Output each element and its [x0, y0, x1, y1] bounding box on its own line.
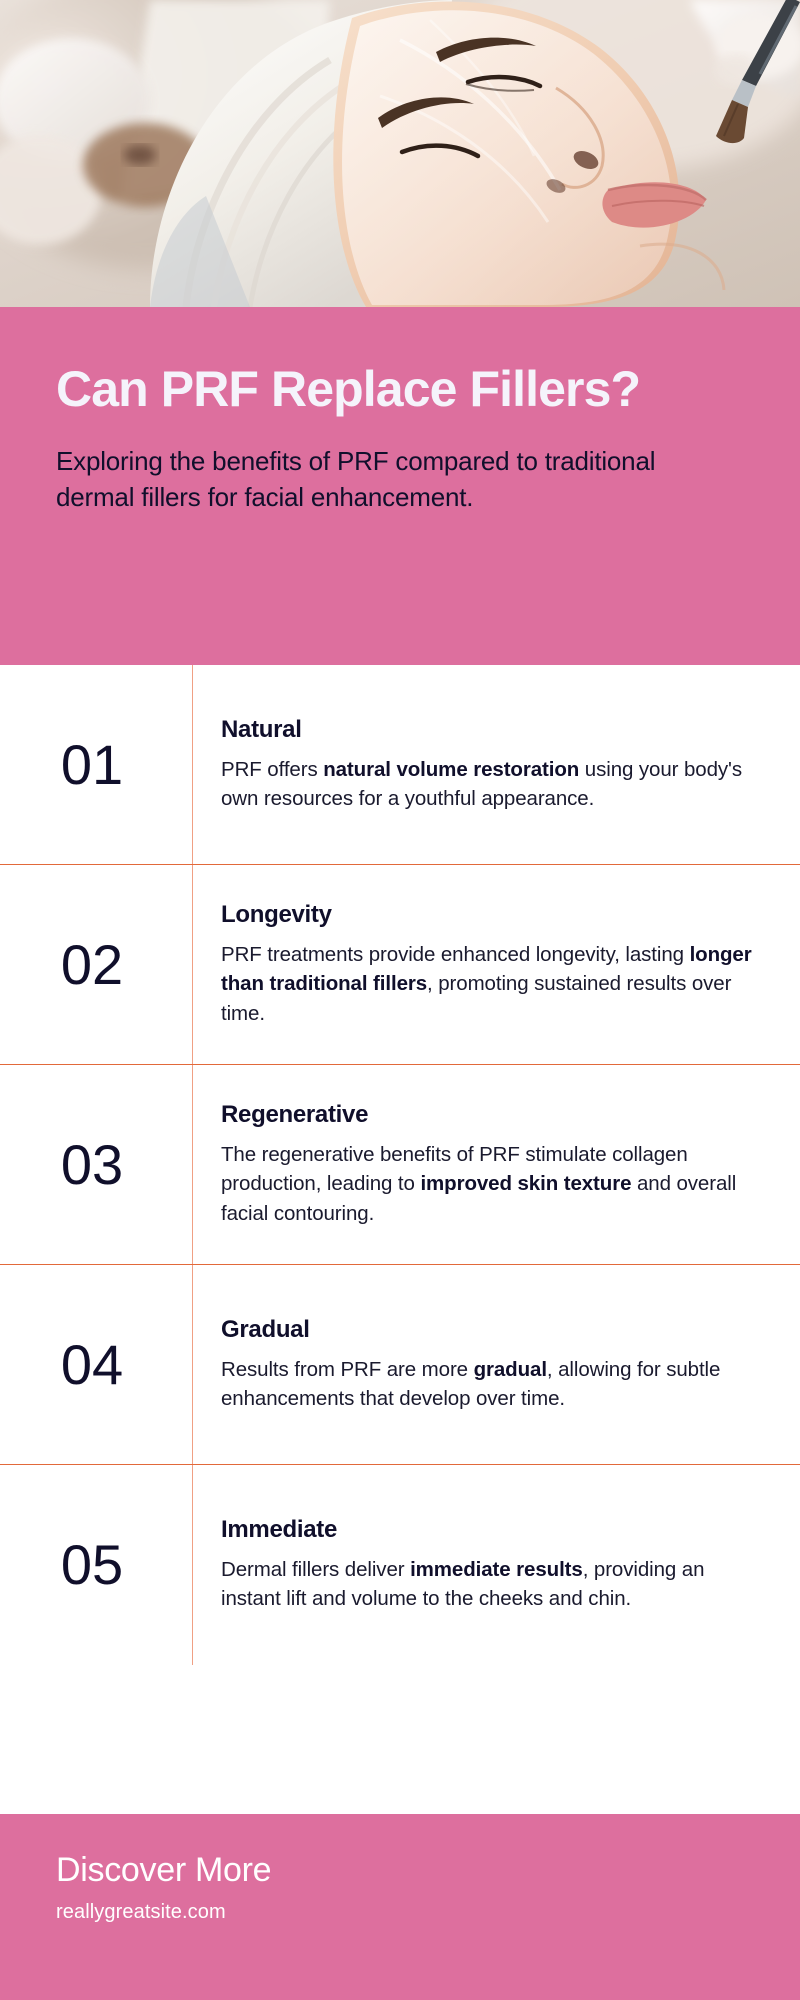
- item-body: Results from PRF are more gradual, allow…: [221, 1355, 756, 1414]
- footer-band: Discover More reallygreatsite.com: [0, 1814, 800, 2000]
- item-text-cell: RegenerativeThe regenerative benefits of…: [192, 1065, 800, 1264]
- item-heading: Regenerative: [221, 1101, 756, 1130]
- footer-cta[interactable]: Discover More: [56, 1852, 744, 1889]
- item-body-text: PRF offers: [221, 758, 323, 781]
- item-text-cell: GradualResults from PRF are more gradual…: [192, 1265, 800, 1464]
- item-number: 04: [61, 1337, 123, 1393]
- item-body-text: Results from PRF are more: [221, 1358, 474, 1381]
- infographic-poster: Can PRF Replace Fillers? Exploring the b…: [0, 0, 800, 2000]
- list-item: 04GradualResults from PRF are more gradu…: [0, 1265, 800, 1465]
- item-body: The regenerative benefits of PRF stimula…: [221, 1140, 756, 1228]
- item-body-emphasis: natural volume restoration: [323, 758, 579, 781]
- item-heading: Immediate: [221, 1516, 756, 1545]
- item-text-cell: ImmediateDermal fillers deliver immediat…: [192, 1465, 800, 1665]
- item-number: 02: [61, 937, 123, 993]
- item-body-emphasis: immediate results: [410, 1558, 583, 1581]
- item-body-emphasis: gradual: [474, 1358, 547, 1381]
- item-number-cell: 04: [0, 1265, 192, 1464]
- title-band: Can PRF Replace Fillers? Exploring the b…: [0, 307, 800, 665]
- item-body-emphasis: improved skin texture: [420, 1172, 631, 1195]
- item-body: PRF offers natural volume restoration us…: [221, 755, 756, 814]
- list-item: 03RegenerativeThe regenerative benefits …: [0, 1065, 800, 1265]
- item-body-text: PRF treatments provide enhanced longevit…: [221, 943, 690, 966]
- hero-photo: [0, 0, 800, 307]
- footer-url[interactable]: reallygreatsite.com: [56, 1901, 744, 1924]
- item-body: PRF treatments provide enhanced longevit…: [221, 940, 756, 1028]
- item-number-cell: 02: [0, 865, 192, 1064]
- item-number-cell: 01: [0, 665, 192, 864]
- item-heading: Gradual: [221, 1316, 756, 1345]
- page-title: Can PRF Replace Fillers?: [56, 363, 744, 416]
- item-number: 03: [61, 1137, 123, 1193]
- item-text-cell: LongevityPRF treatments provide enhanced…: [192, 865, 800, 1064]
- list-item: 01NaturalPRF offers natural volume resto…: [0, 665, 800, 865]
- page-subtitle: Exploring the benefits of PRF compared t…: [56, 444, 736, 516]
- item-number: 05: [61, 1537, 123, 1593]
- item-number-cell: 03: [0, 1065, 192, 1264]
- item-body: Dermal fillers deliver immediate results…: [221, 1555, 756, 1614]
- list-item: 02LongevityPRF treatments provide enhanc…: [0, 865, 800, 1065]
- list-item: 05ImmediateDermal fillers deliver immedi…: [0, 1465, 800, 1665]
- facial-treatment-illustration: [0, 0, 800, 307]
- item-number: 01: [61, 737, 123, 793]
- item-body-text: Dermal fillers deliver: [221, 1558, 410, 1581]
- item-number-cell: 05: [0, 1465, 192, 1665]
- item-text-cell: NaturalPRF offers natural volume restora…: [192, 665, 800, 864]
- item-heading: Natural: [221, 716, 756, 745]
- benefits-list: 01NaturalPRF offers natural volume resto…: [0, 665, 800, 1814]
- item-heading: Longevity: [221, 901, 756, 930]
